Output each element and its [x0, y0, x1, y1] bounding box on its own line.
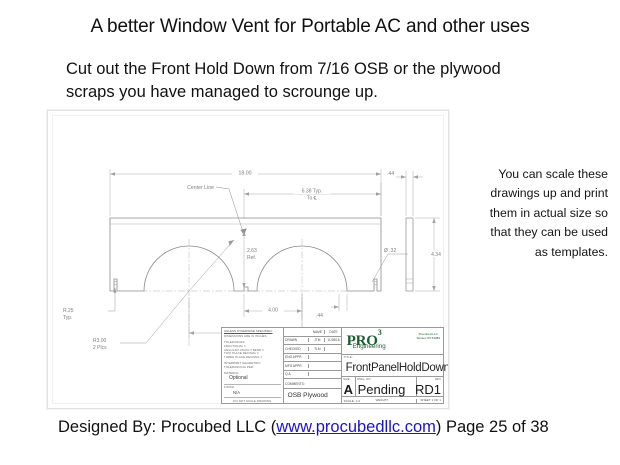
instruction-text: Cut out the Front Hold Down from 7/16 OS… [66, 58, 516, 105]
footer-prefix: Designed By: Procubed LLC ( [58, 418, 276, 436]
dim-notch-radius-note: Typ. [63, 315, 72, 321]
scale-label: SCALE: 1:3 [342, 400, 360, 404]
drawing-id-row: SIZE A DWG. NO. Pending REV RD1 [342, 377, 443, 397]
logo-subtitle: Engineering [353, 343, 386, 351]
comments-label: COMMENTS: [285, 382, 304, 386]
title-block-approvals: NAME DATE DRAWN JTM 11/28/16 CHECKED TLM… [284, 328, 342, 403]
finish-value: N/A [224, 390, 281, 395]
approval-role: MFG APPR. [284, 364, 310, 368]
approval-role: DRAWN [284, 338, 310, 342]
tolerance-line-5: THREE PLACE DECIMAL ± [224, 356, 281, 360]
title-block-identification: PRO3 Engineering Procubed LLC Sussex WI … [342, 328, 443, 403]
part-title-label: TITLE: [344, 356, 353, 360]
technical-drawing: 18.00 6.38 Typ. To ℄ Center Line 2.63 Re… [47, 110, 449, 409]
comments-label-cell: COMMENTS: [284, 379, 341, 389]
approval-role: Q.A. [284, 372, 310, 376]
comments-value: OSB Plywood [284, 389, 341, 403]
procubed-website-link[interactable]: www.procubedllc.com [276, 418, 436, 436]
label-center-line: Center Line [187, 185, 214, 191]
logo-superscript: 3 [378, 328, 382, 337]
table-row: CHECKED TLM [284, 345, 341, 354]
approval-name: TLM [309, 347, 325, 351]
page-title: A better Window Vent for Portable AC and… [0, 16, 620, 38]
approval-date: 11/28/16 [325, 338, 341, 342]
scale-row: SCALE: 1:3 WEIGHT: SHEET 1 OF 1 [342, 397, 443, 407]
company-address: Procubed LLC Sussex WI 53089 [416, 332, 440, 340]
approval-date-header: DATE [325, 330, 341, 334]
tolerance-line-0: DIMENSIONS ARE IN INCHES [224, 335, 281, 339]
dim-arch-radius-ref-note: Ref. [247, 255, 256, 261]
dim-arch-radius-ref: 2.63 [247, 248, 257, 254]
interpret-line-2: TOLERANCING PER: [224, 366, 281, 370]
material-value: Optional [224, 375, 281, 381]
approval-role: ENG APPR. [284, 355, 310, 359]
table-row: DRAWN JTM 11/28/16 [284, 337, 341, 346]
dim-corner-radius: R3.00 [93, 338, 107, 344]
dim-arch-spacing-note: To ℄ [307, 196, 318, 202]
dim-corner-radius-note: 2 Plcs [93, 345, 107, 351]
drawing-title-block: UNLESS OTHERWISE SPECIFIED: DIMENSIONS A… [221, 327, 444, 404]
dim-slot-width: .44 [316, 313, 323, 319]
part-title-value: FrontPanelHoldDown [346, 361, 449, 375]
company-logo-row: PRO3 Engineering Procubed LLC Sussex WI … [342, 328, 443, 355]
size-value: A [344, 382, 353, 398]
dim-notch-radius: R.25 [63, 308, 74, 314]
do-not-scale-note: DO NOT SCALE DRAWING [224, 397, 281, 403]
dwg-number-value: Pending [358, 382, 406, 398]
dim-side-thickness: .44 [387, 171, 394, 177]
table-row: MFG APPR. [284, 362, 341, 371]
footer: Designed By: Procubed LLC (www.procubedl… [58, 418, 549, 437]
table-row: ENG APPR. [284, 354, 341, 363]
title-block-tolerances: UNLESS OTHERWISE SPECIFIED: DIMENSIONS A… [222, 328, 284, 403]
company-location: Sussex WI 53089 [416, 336, 440, 340]
approval-name: JTM [309, 338, 325, 342]
approval-role: CHECKED [284, 347, 310, 351]
approval-name-header: NAME [309, 330, 325, 334]
dim-inner-span: 4.00 [268, 308, 278, 314]
weight-label: WEIGHT: [376, 399, 389, 403]
dwg-number-cell: DWG. NO. Pending [356, 377, 417, 396]
dim-arch-spacing: 6.38 Typ. [302, 189, 322, 195]
approval-header-row: NAME DATE [284, 328, 341, 337]
sheet-label: SHEET 1 OF 1 [416, 399, 441, 403]
revision-cell: REV RD1 [417, 377, 443, 396]
dim-hole-diameter: Ø .32 [384, 248, 396, 254]
dim-overall-width: 18.00 [239, 171, 252, 177]
revision-value: RD1 [415, 382, 441, 398]
size-cell: SIZE A [342, 377, 356, 396]
tolerance-heading: UNLESS OTHERWISE SPECIFIED: [224, 330, 281, 334]
part-title-row: TITLE: FrontPanelHoldDown [342, 355, 443, 377]
footer-suffix: ) Page 25 of 38 [436, 418, 549, 436]
dim-side-height: 4.34 [431, 252, 441, 258]
side-note-text: You can scale these drawings up and prin… [480, 165, 608, 262]
table-row: Q.A. [284, 371, 341, 380]
